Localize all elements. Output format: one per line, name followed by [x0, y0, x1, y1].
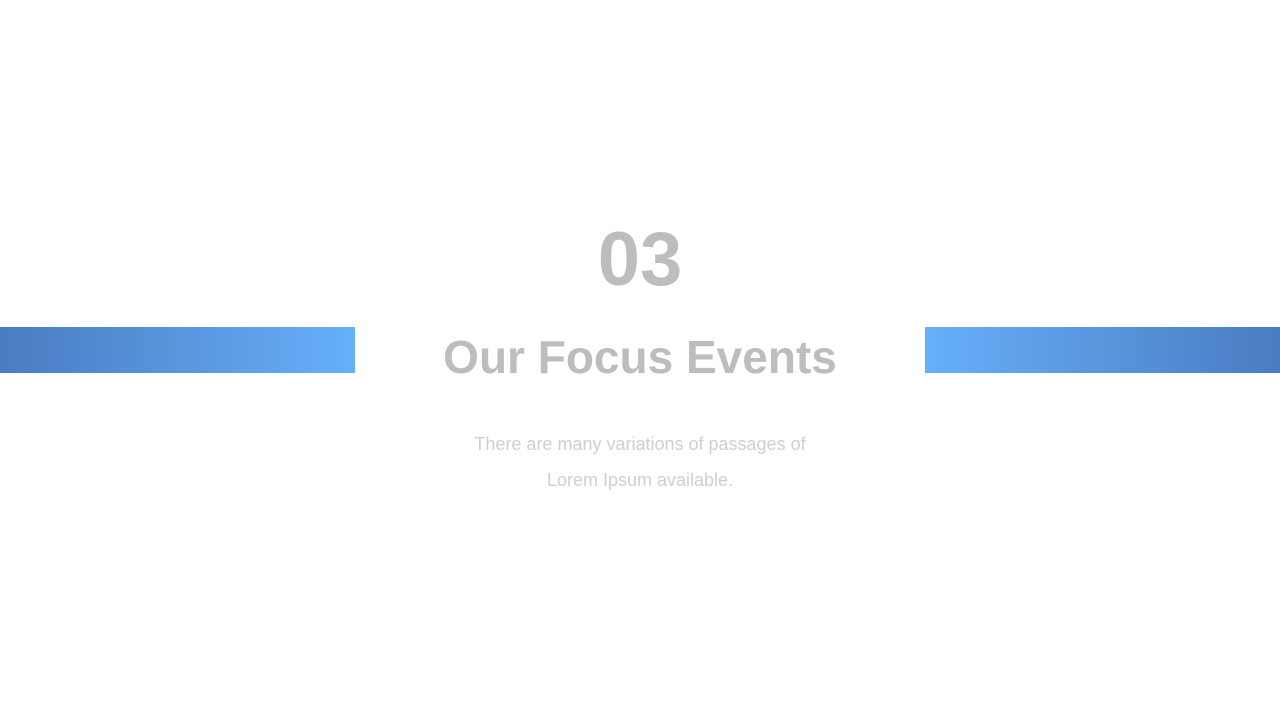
slide-title: Our Focus Events — [443, 332, 837, 383]
slide-subtitle-line-2: Lorem Ipsum available. — [474, 462, 805, 498]
slide-subtitle-line-1: There are many variations of passages of — [474, 426, 805, 462]
slide-subtitle: There are many variations of passages of… — [474, 426, 805, 498]
slide-number: 03 — [598, 222, 683, 298]
slide-content: 03 Our Focus Events There are many varia… — [0, 0, 1280, 720]
presentation-slide: 03 Our Focus Events There are many varia… — [0, 0, 1280, 720]
